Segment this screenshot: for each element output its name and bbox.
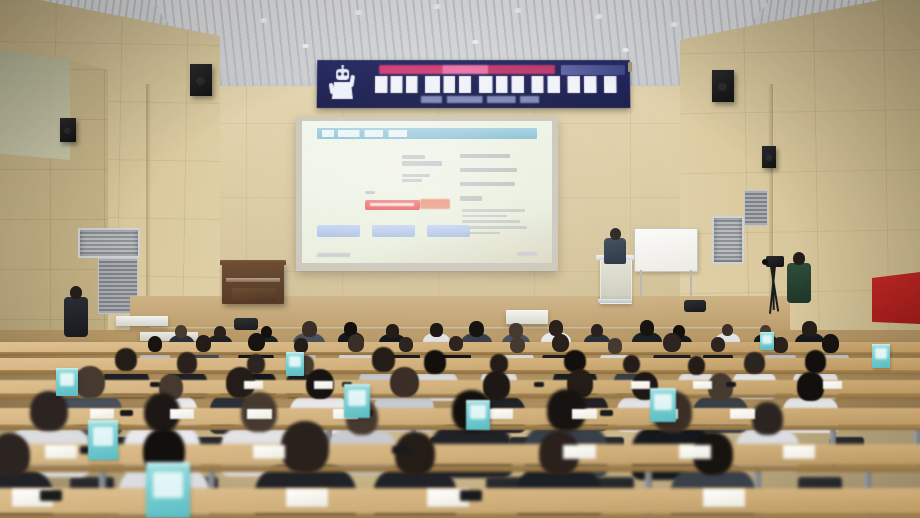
audience-member-head <box>805 350 826 373</box>
white-box-on-stage <box>506 310 548 324</box>
camera-operator-head <box>793 252 805 265</box>
audience-member-head <box>214 326 226 339</box>
handout-paper <box>489 409 514 419</box>
audience-member-head <box>510 337 525 354</box>
red-wall-panel <box>872 272 920 324</box>
handout-paper <box>631 381 650 389</box>
white-table <box>116 316 168 326</box>
video-camera <box>766 256 784 267</box>
audience-member-head <box>469 321 484 337</box>
slide-orange-note <box>420 199 450 209</box>
slide-right-note <box>462 209 525 212</box>
camera-lens-icon <box>762 259 768 265</box>
slide-button <box>317 225 360 237</box>
banner-top-line <box>379 65 555 74</box>
handout-paper <box>703 489 745 507</box>
slide-text-line <box>365 191 375 195</box>
gift-bag <box>466 400 490 430</box>
gift-bag <box>760 332 774 350</box>
smartphone <box>120 410 133 416</box>
slide-right-note <box>462 220 520 223</box>
audience-member-head <box>773 337 788 353</box>
audience-member-head <box>424 350 446 374</box>
banner-main-title <box>375 76 625 93</box>
handout-paper <box>693 381 712 389</box>
banner-subtitle <box>421 96 539 103</box>
slide-button <box>427 225 470 237</box>
smartphone <box>460 490 482 501</box>
audience-member-head <box>663 333 681 353</box>
audience-member-head <box>722 324 734 337</box>
audience-member-head <box>483 371 510 400</box>
handout-paper <box>823 381 842 389</box>
downlight-icon <box>592 14 605 19</box>
handout-paper <box>572 409 597 419</box>
downlight-icon <box>668 22 680 27</box>
handout-paper <box>314 381 333 389</box>
presenter-body <box>604 238 626 264</box>
speaker-icon <box>60 118 76 142</box>
audience-member-head <box>196 335 211 352</box>
audience-member-head <box>822 334 839 353</box>
handout-paper <box>45 445 77 459</box>
air-vent-icon <box>78 228 140 258</box>
audience-member-head <box>390 367 419 398</box>
handout-paper <box>247 409 272 419</box>
audience-member-head <box>30 391 68 432</box>
desk-edge <box>0 514 920 518</box>
audience-member-head <box>430 323 443 337</box>
handout-paper <box>286 489 328 507</box>
gift-bag <box>344 384 370 418</box>
audience-member-head <box>797 372 823 400</box>
slide-text-line <box>402 155 425 159</box>
audience-member-head <box>281 421 329 473</box>
robot-mascot-icon <box>326 65 360 105</box>
whiteboard <box>634 228 698 272</box>
audience-member-head <box>623 355 640 374</box>
audience-member-head <box>552 334 569 353</box>
audience-member-head <box>711 337 725 352</box>
lecture-hall-photo <box>0 0 920 518</box>
slide-highlight-box <box>365 200 420 210</box>
audience-member-head <box>802 321 816 337</box>
smartphone <box>726 382 736 387</box>
downlight-icon <box>258 18 270 23</box>
slide-right-note <box>462 226 527 229</box>
slide-footer-left <box>317 253 350 256</box>
gift-bag <box>872 344 890 368</box>
desk-edge <box>0 370 920 374</box>
acrylic-podium <box>600 258 632 304</box>
gift-bag <box>56 368 78 396</box>
audience-member-head <box>591 324 603 337</box>
slide-text-line <box>402 161 442 166</box>
audience-member-head <box>752 402 782 435</box>
smartphone <box>40 490 62 501</box>
handout-paper <box>253 445 285 459</box>
audience-member-head <box>399 337 413 352</box>
banner-corner-tag <box>561 65 625 75</box>
desk-edge <box>0 465 920 472</box>
audience-member-head <box>608 338 622 353</box>
smartphone <box>534 382 544 387</box>
downlight-icon <box>512 8 524 13</box>
handout-paper <box>730 409 755 419</box>
handout-paper <box>679 445 711 459</box>
presenter-head <box>610 228 621 240</box>
audience-member-head <box>744 352 765 374</box>
piano-keyboard <box>226 278 280 282</box>
slide-button <box>372 225 415 237</box>
audience-member-head <box>490 354 507 373</box>
equipment-bag <box>684 300 706 312</box>
speaker-icon <box>712 70 734 102</box>
audience-member-head <box>294 338 308 353</box>
handout-paper <box>783 445 815 459</box>
audience-member-head <box>386 324 399 338</box>
audience-member-head <box>640 320 654 335</box>
gift-bag <box>146 462 190 518</box>
staff-head <box>70 286 82 299</box>
downlight-icon <box>470 40 481 44</box>
piano-bench <box>232 288 276 302</box>
slide-footer-right <box>517 252 537 256</box>
podium-base <box>598 299 632 303</box>
handout-paper <box>90 409 115 419</box>
gift-bag <box>88 420 118 460</box>
audience-member-head <box>177 352 197 373</box>
audience-member-head <box>348 334 364 351</box>
audience-member-head <box>175 325 187 338</box>
handout-paper <box>244 381 263 389</box>
handout-paper <box>563 445 595 459</box>
slide-header-text <box>322 130 407 137</box>
gift-bag <box>650 388 676 422</box>
downlight-icon <box>620 48 631 52</box>
downlight-icon <box>300 44 311 48</box>
air-vent-icon <box>712 216 744 264</box>
speaker-icon <box>190 64 212 96</box>
slide-right-item <box>460 168 518 172</box>
slide-right-note <box>462 215 507 218</box>
staff-body <box>64 297 88 337</box>
slide-text-line <box>402 179 422 182</box>
stage-banner <box>317 60 631 108</box>
slide-text-line <box>402 174 430 177</box>
smartphone <box>150 382 160 387</box>
audience-member-head <box>248 333 265 352</box>
audience-member-head <box>372 347 395 372</box>
audience-member-head <box>75 366 105 399</box>
camera-operator-body <box>787 263 811 303</box>
left-wall-panel <box>0 48 70 160</box>
slide-right-item <box>460 182 515 186</box>
smartphone <box>392 446 409 454</box>
audience-member-head <box>509 323 523 338</box>
projection-screen <box>302 121 552 263</box>
audience-member-head <box>688 356 706 375</box>
banner-mount-pole <box>628 62 632 72</box>
downlight-icon <box>430 4 443 9</box>
slide-right-item <box>460 196 483 200</box>
audience-member-head <box>148 336 162 352</box>
handout-paper <box>170 409 195 419</box>
equipment-bag <box>234 318 258 330</box>
audience-member-head <box>449 336 463 351</box>
downlight-icon <box>352 10 365 15</box>
gift-bag <box>286 352 304 376</box>
audience-member-head <box>302 321 317 337</box>
air-vent-icon <box>744 190 768 226</box>
speaker-icon <box>762 146 776 168</box>
student-desk <box>0 358 920 370</box>
slide-right-item <box>460 154 510 158</box>
smartphone <box>600 410 613 416</box>
audience-member-head <box>115 348 137 371</box>
